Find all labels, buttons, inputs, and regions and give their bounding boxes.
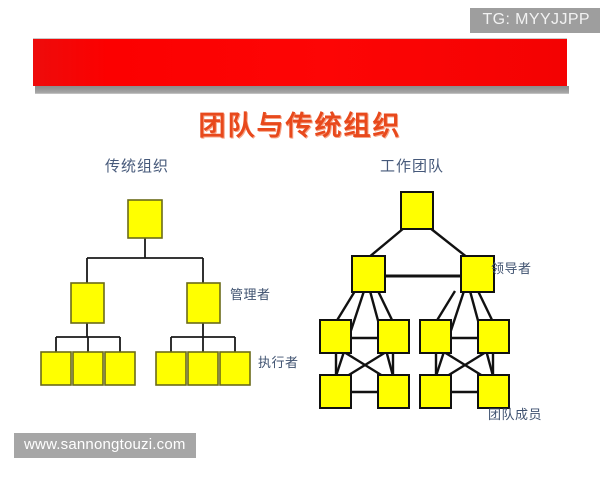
node-member-3 <box>320 375 351 408</box>
link-l1-member-1 <box>336 291 355 322</box>
node-leader-1 <box>352 256 385 292</box>
traditional-org-tree <box>41 200 250 385</box>
link-top-leader-2 <box>430 228 468 258</box>
left-diagram-heading: 传统组织 <box>105 155 169 176</box>
node-member-5 <box>420 320 451 353</box>
annotation-leader: 领导者 <box>491 258 532 277</box>
right-diagram-heading: 工作团队 <box>380 155 444 176</box>
site-watermark: www.sannongtouzi.com <box>14 433 196 459</box>
annotation-team-member: 团队成员 <box>488 404 542 423</box>
node-worker-5 <box>188 352 218 385</box>
node-worker-6 <box>220 352 250 385</box>
node-manager-2 <box>187 283 220 323</box>
node-member-2 <box>378 320 409 353</box>
annotation-worker: 执行者 <box>258 352 299 371</box>
node-worker-3 <box>105 352 135 385</box>
slide-canvas: TG: MYYJJPP 团队与传统组织 传统组织 工作团队 管理者 执行者 领导… <box>0 0 600 480</box>
page-title: 团队与传统组织 <box>0 104 600 143</box>
annotation-manager: 管理者 <box>230 284 271 303</box>
link-top-leader-1 <box>368 228 404 258</box>
link-l2-member-2 <box>478 291 493 322</box>
node-worker-4 <box>156 352 186 385</box>
node-member-1 <box>320 320 351 353</box>
link-l1-member-2 <box>378 291 393 322</box>
link-l2-member-1 <box>436 291 455 322</box>
node-member-7 <box>420 375 451 408</box>
node-leader-2 <box>461 256 494 292</box>
node-team-top <box>401 192 433 229</box>
node-org-root <box>128 200 162 238</box>
work-team-network <box>320 192 509 408</box>
node-worker-2 <box>73 352 103 385</box>
telegram-watermark: TG: MYYJJPP <box>470 8 600 33</box>
node-manager-1 <box>71 283 104 323</box>
node-member-4 <box>378 375 409 408</box>
node-member-6 <box>478 320 509 353</box>
node-worker-1 <box>41 352 71 385</box>
